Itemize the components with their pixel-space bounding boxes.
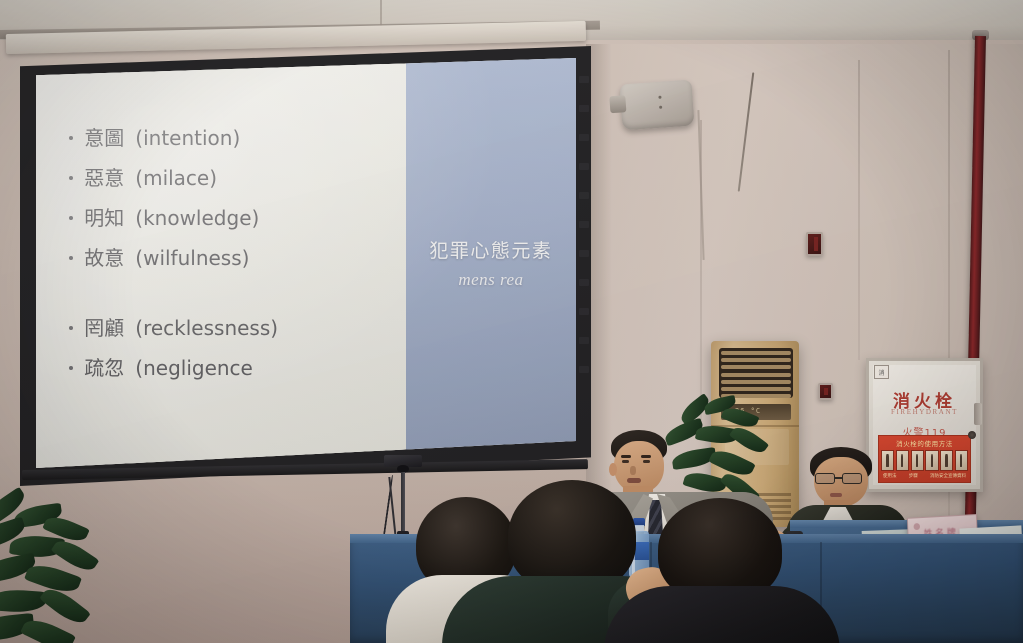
projection-screen-surface: 意圖 (intention) 惡意 (milace) 明知 (knowledge…: [36, 58, 576, 468]
bullet-term-zh: 罔顧: [84, 318, 124, 338]
bullet-term-en: (milace): [135, 168, 217, 188]
audience-member-black-top: [644, 498, 804, 643]
lecture-hall-photo: 消 消火栓 FIREHYDRANT 火警119 消火栓的使用方法 使用法 步驟 …: [0, 0, 1023, 643]
projection-screen-assembly: 意圖 (intention) 惡意 (milace) 明知 (knowledge…: [6, 18, 596, 488]
speaker-bracket: [609, 95, 626, 113]
slide-panel-title: 犯罪心態元素: [429, 236, 552, 263]
pull-station-slot: [824, 388, 828, 395]
eyebrow-right: [641, 455, 651, 458]
bullet-dot-icon: [69, 176, 73, 180]
hydrant-lock-icon[interactable]: [968, 431, 976, 439]
bullet-term-zh: 故意: [84, 248, 124, 268]
speaker-screws: [658, 96, 662, 116]
fire-alarm-pull-station-upper-icon: [806, 232, 823, 256]
eyebrow-left: [621, 455, 631, 458]
hydrant-title-en: FIREHYDRANT: [869, 408, 980, 416]
ear: [609, 463, 617, 476]
list-item: 惡意 (milace): [69, 168, 391, 188]
slide-bullet-spacer: [69, 288, 391, 318]
pull-station-slot: [814, 237, 818, 251]
poster-footer-mid: 步驟: [909, 473, 918, 479]
slide-panel-subtitle: mens rea: [458, 270, 523, 290]
bullet-term-en: (wilfulness): [135, 248, 249, 268]
bullet-dot-icon: [69, 326, 73, 330]
poster-footer-right: 消防安全宣傳資料: [930, 473, 966, 479]
screen-hanging-hooks: [579, 76, 591, 406]
slide-title-panel: 犯罪心態元素 mens rea: [406, 58, 576, 468]
bullet-term-en: (recklessness): [135, 318, 278, 338]
eye-left: [622, 460, 629, 463]
placard-emblem-icon: [913, 523, 920, 530]
nose: [630, 466, 636, 475]
bullet-term-en: (knowledge): [135, 208, 259, 228]
bullet-term-en: (negligence: [135, 358, 253, 378]
bullet-term-zh: 意圖: [84, 128, 124, 148]
list-item: 故意 (wilfulness): [69, 248, 391, 268]
shoulders: [604, 586, 840, 643]
bullet-dot-icon: [69, 136, 73, 140]
bullet-term-zh: 惡意: [84, 168, 124, 188]
slide-bullet-list: 意圖 (intention) 惡意 (milace) 明知 (knowledge…: [69, 128, 391, 398]
mouth: [830, 493, 842, 497]
bullet-dot-icon: [69, 216, 73, 220]
list-item: 意圖 (intention): [69, 128, 391, 148]
hydrant-tag: 消: [874, 365, 889, 379]
eye-right: [643, 460, 650, 463]
list-item: 明知 (knowledge): [69, 208, 391, 228]
wall-speaker-icon: [619, 80, 694, 131]
hydrant-door-handle[interactable]: [974, 403, 982, 425]
aircon-top-vent: [719, 348, 793, 398]
slide-bullet-column: 意圖 (intention) 惡意 (milace) 明知 (knowledge…: [36, 58, 406, 468]
presentation-slide: 意圖 (intention) 惡意 (milace) 明知 (knowledge…: [36, 58, 576, 468]
fire-alarm-pull-station-lower-icon: [818, 383, 833, 400]
list-item: 罔顧 (recklessness): [69, 318, 391, 338]
bullet-dot-icon: [69, 256, 73, 260]
glasses-icon: [814, 473, 868, 485]
potted-plant-left: [0, 498, 124, 643]
bullet-dot-icon: [69, 366, 73, 370]
bullet-term-zh: 明知: [84, 208, 124, 228]
wall-panel-joint-2: [858, 60, 860, 360]
bullet-term-zh: 疏忽: [84, 358, 124, 378]
screen-roller-housing: [6, 21, 586, 54]
bullet-term-en: (intention): [135, 128, 240, 148]
list-item: 疏忽 (negligence: [69, 358, 391, 378]
